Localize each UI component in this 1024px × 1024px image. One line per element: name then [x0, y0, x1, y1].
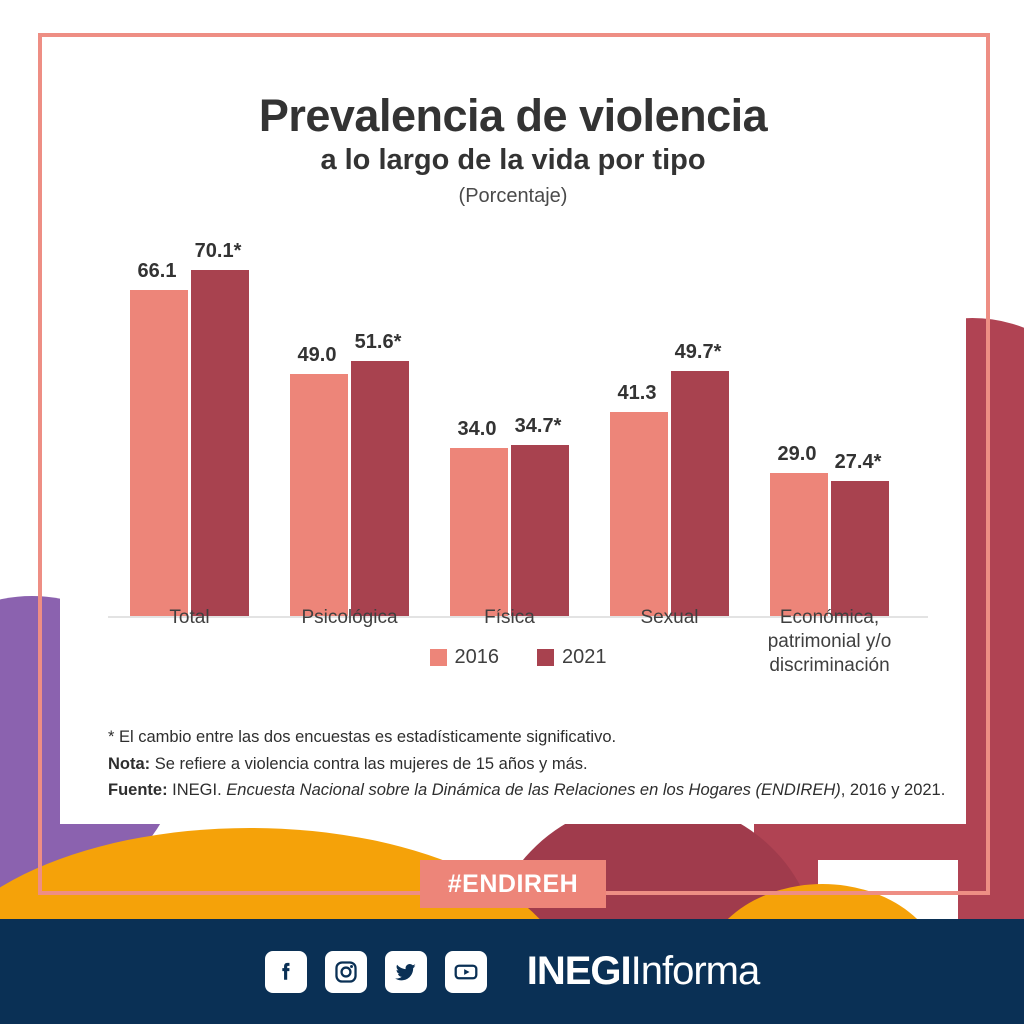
brand-inegi: INEGI: [527, 949, 631, 993]
category-label-line: Económica,: [730, 606, 930, 630]
brand-informa: Informa: [631, 949, 760, 993]
page-title: Prevalencia de violencia: [60, 92, 966, 139]
bar-2016-sexual[interactable]: 41.3: [610, 412, 668, 616]
bar-value-label: 66.1: [128, 260, 186, 283]
bar-value-label: 34.7*: [509, 415, 567, 438]
page-subtitle: a lo largo de la vida por tipo: [60, 145, 966, 177]
bar-value-label: 27.4*: [829, 451, 887, 474]
page-unit: (Porcentaje): [60, 185, 966, 208]
note-fuente: Fuente: INEGI. Encuesta Nacional sobre l…: [108, 777, 968, 804]
bar-value-label: 29.0: [768, 443, 826, 466]
bar-2021-psicológica[interactable]: 51.6*: [351, 361, 409, 616]
bar-value-label: 34.0: [448, 418, 506, 441]
bar-2016-total[interactable]: 66.1: [130, 290, 188, 616]
legend-item-2021[interactable]: 2021: [537, 646, 607, 669]
decorative-white-gap: [818, 860, 958, 920]
bar-value-label: 49.0: [288, 344, 346, 367]
legend-swatch: [430, 649, 447, 666]
chart-plot-area: 66.170.1*49.051.6*34.034.7*41.349.7*29.0…: [108, 246, 928, 618]
note-nota-text: Se refiere a violencia contra las mujere…: [150, 755, 587, 773]
facebook-icon[interactable]: [265, 951, 307, 993]
bar-chart: 66.170.1*49.051.6*34.034.7*41.349.7*29.0…: [108, 228, 928, 668]
note-asterisk: * El cambio entre las dos encuestas es e…: [108, 724, 968, 751]
note-nota-label: Nota:: [108, 755, 150, 773]
bar-2021-física[interactable]: 34.7*: [511, 445, 569, 616]
bar-group: 66.170.1*: [130, 246, 249, 616]
brand-logo: INEGIInforma: [527, 949, 760, 994]
twitter-icon[interactable]: [385, 951, 427, 993]
bar-2016-física[interactable]: 34.0: [450, 448, 508, 616]
title-block: Prevalencia de violencia a lo largo de l…: [60, 92, 966, 208]
category-label-line: discriminación: [730, 654, 930, 678]
legend-label: 2021: [562, 646, 607, 669]
youtube-icon[interactable]: [445, 951, 487, 993]
category-label: Económica,patrimonial y/odiscriminación: [730, 606, 930, 677]
footnotes: * El cambio entre las dos encuestas es e…: [108, 724, 968, 804]
infographic-canvas: Prevalencia de violencia a lo largo de l…: [0, 0, 1024, 1024]
note-fuente-text-1: INEGI.: [168, 781, 227, 799]
hashtag-badge: #ENDIREH: [420, 860, 606, 908]
legend-item-2016[interactable]: 2016: [430, 646, 500, 669]
note-fuente-label: Fuente:: [108, 781, 168, 799]
bar-2021-total[interactable]: 70.1*: [191, 270, 249, 616]
bar-2021-sexual[interactable]: 49.7*: [671, 371, 729, 616]
category-label-line: patrimonial y/o: [730, 630, 930, 654]
instagram-icon[interactable]: [325, 951, 367, 993]
bar-value-label: 70.1*: [189, 240, 247, 263]
bar-2016-psicológica[interactable]: 49.0: [290, 374, 348, 616]
bar-group: 29.027.4*: [770, 246, 889, 616]
bar-value-label: 41.3: [608, 382, 666, 405]
bar-2016-económica[interactable]: 29.0: [770, 473, 828, 616]
note-fuente-text-2: , 2016 y 2021.: [841, 781, 946, 799]
content-card: Prevalencia de violencia a lo largo de l…: [60, 52, 966, 824]
footer-bar: INEGIInforma: [0, 919, 1024, 1024]
bar-2021-económica[interactable]: 27.4*: [831, 481, 889, 616]
bar-value-label: 49.7*: [669, 341, 727, 364]
bar-group: 49.051.6*: [290, 246, 409, 616]
bar-value-label: 51.6*: [349, 331, 407, 354]
note-fuente-italic: Encuesta Nacional sobre la Dinámica de l…: [226, 781, 840, 799]
bar-group: 41.349.7*: [610, 246, 729, 616]
legend-label: 2016: [455, 646, 500, 669]
legend-swatch: [537, 649, 554, 666]
bar-group: 34.034.7*: [450, 246, 569, 616]
note-nota: Nota: Se refiere a violencia contra las …: [108, 751, 968, 778]
